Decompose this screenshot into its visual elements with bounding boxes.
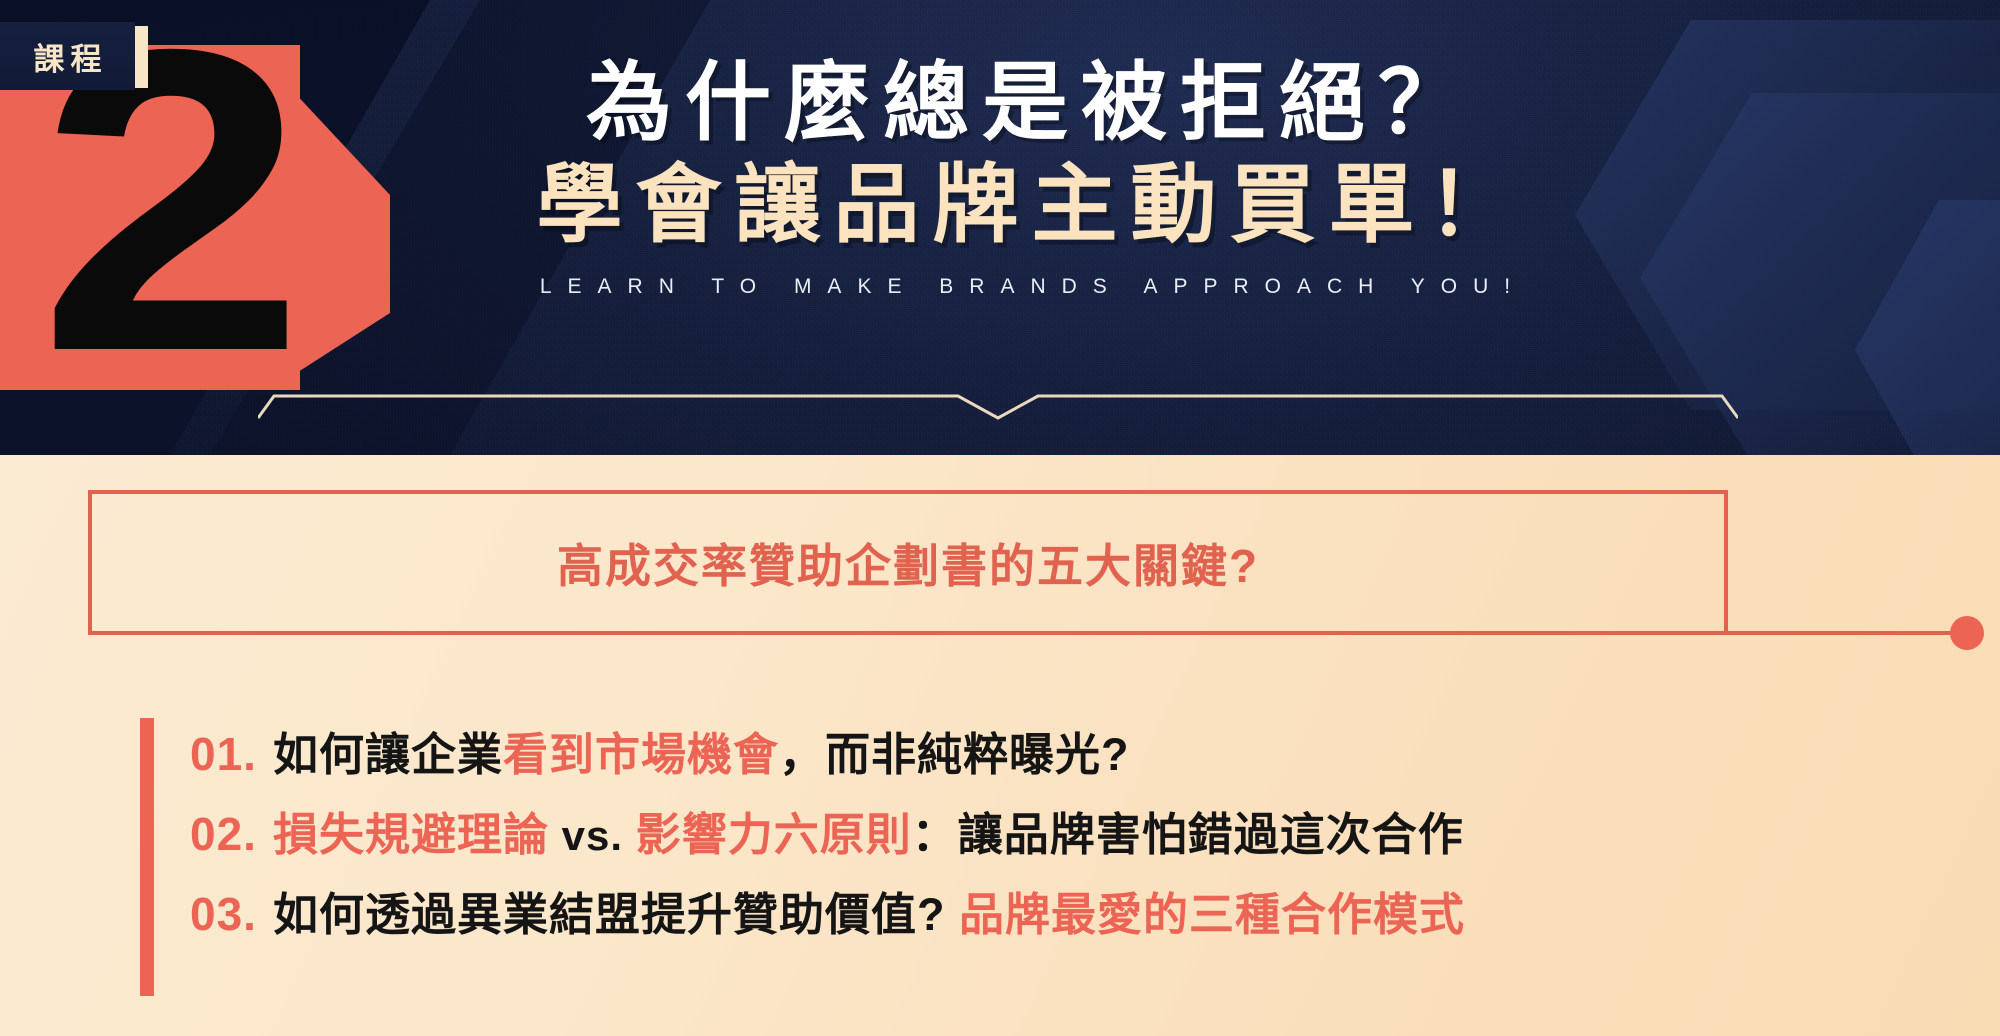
- list-item-text: 如何透過異業結盟提升贊助價值? 品牌最愛的三種合作模式: [273, 878, 1465, 943]
- list-item: 01. 如何讓企業看到市場機會，而非純粹曝光?: [140, 718, 1940, 798]
- text-run: 影響力六原則: [636, 809, 912, 860]
- text-run: 如何透過異業結盟提升贊助價值?: [273, 889, 946, 940]
- text-run: 看到市場機會: [503, 729, 779, 780]
- coral-dot-marker: [1950, 616, 1984, 650]
- text-run: 品牌最愛的三種合作模式: [945, 889, 1465, 940]
- text-run: vs.: [549, 812, 636, 859]
- text-run: ，而非純粹曝光?: [779, 729, 1130, 780]
- title-line-1: 為什麼總是被拒絕？: [373, 60, 1690, 148]
- list-item-number: 03.: [190, 887, 257, 941]
- title-line-2: 學會讓品牌主動買單！: [373, 162, 1690, 250]
- divider-rule-with-chevron: [258, 392, 1738, 420]
- text-run: 如何讓企業: [273, 729, 503, 780]
- title-block: 為什麼總是被拒絕？ 學會讓品牌主動買單！ LEARN TO MAKE BRAND…: [360, 60, 1690, 299]
- list-item-number: 02.: [190, 807, 257, 861]
- subtitle-english: LEARN TO MAKE BRANDS APPROACH YOU!: [376, 275, 1690, 299]
- course-tag-label: 課程: [28, 34, 108, 79]
- bullet-list: 01. 如何讓企業看到市場機會，而非純粹曝光? 02. 損失規避理論 vs. 影…: [140, 718, 1940, 958]
- text-run: 損失規避理論: [273, 809, 549, 860]
- list-accent-bar: [140, 718, 154, 996]
- course-tag-accent-bar: [135, 26, 148, 88]
- text-run: ：讓品牌害怕錯過這次合作: [912, 809, 1464, 860]
- list-item: 03. 如何透過異業結盟提升贊助價值? 品牌最愛的三種合作模式: [140, 878, 1940, 958]
- highlight-question: 高成交率贊助企劃書的五大關鍵?: [88, 490, 1728, 635]
- list-item: 02. 損失規避理論 vs. 影響力六原則：讓品牌害怕錯過這次合作: [140, 798, 1940, 878]
- poster-root: 2 課程 為什麼總是被拒絕？ 學會讓品牌主動買單！ LEARN TO MAKE …: [0, 0, 2000, 1036]
- list-item-text: 如何讓企業看到市場機會，而非純粹曝光?: [273, 718, 1130, 783]
- course-tag: 課程: [0, 22, 135, 90]
- highlight-trailing-line: [1724, 631, 1964, 635]
- list-item-number: 01.: [190, 727, 257, 781]
- list-item-text: 損失規避理論 vs. 影響力六原則：讓品牌害怕錯過這次合作: [273, 798, 1464, 863]
